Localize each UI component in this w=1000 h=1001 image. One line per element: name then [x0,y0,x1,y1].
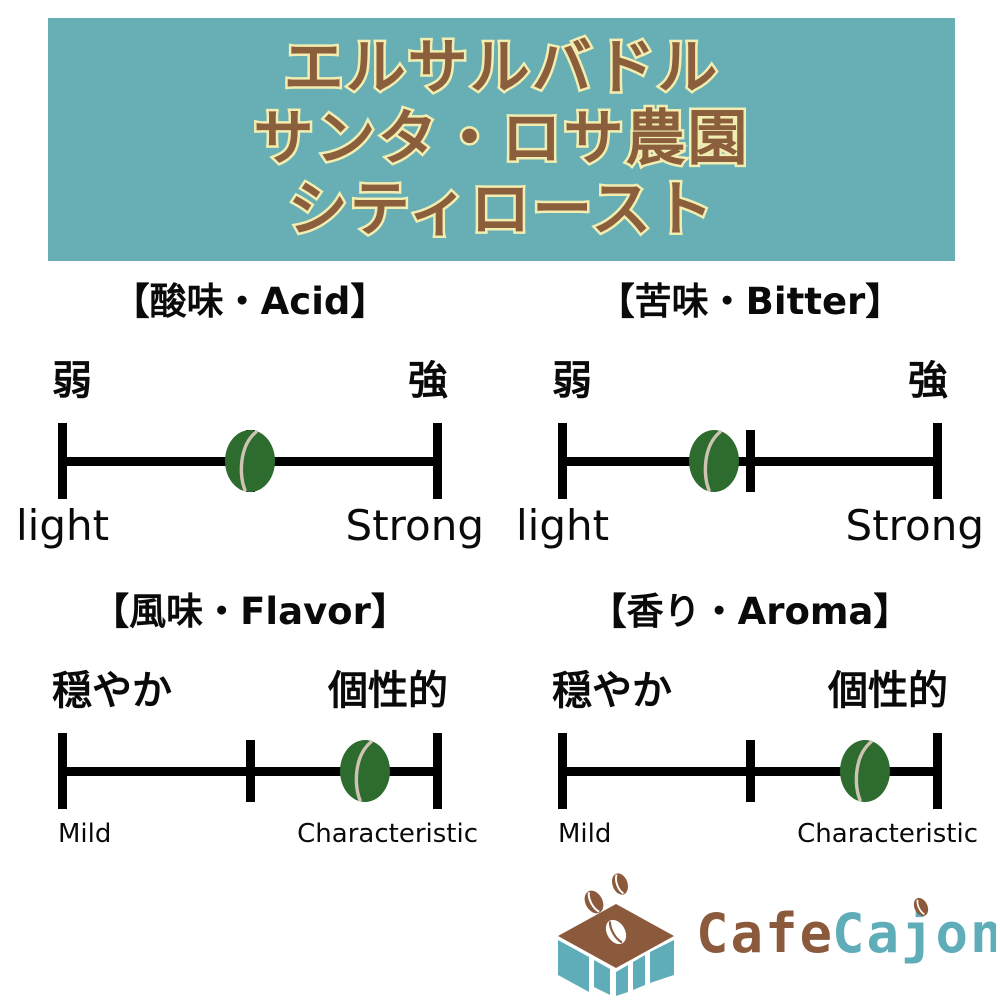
scale-aroma-ruler [552,733,948,809]
scale-acid: 【酸味・Acid】 弱 強 light Strong [0,261,500,571]
brand-logo: Cafe Cajon [548,866,988,996]
scale-flavor-axis: 穏やか 個性的 Mild Characteristic [52,671,448,871]
title-banner: エルサルバドル サンタ・ロサ農園 シティロースト [48,18,955,261]
scale-bitter-label-right-en: Strong [846,505,984,547]
coffee-bean-marker-flavor [338,739,392,803]
title-line-1: エルサルバドル [284,33,720,104]
scale-aroma-label-left-en: Mild [558,821,611,847]
scale-flavor-label-left-en: Mild [58,821,111,847]
scale-acid-ruler [52,423,448,499]
brand-wordmark: Cafe Cajon [696,890,996,980]
scale-flavor-heading: 【風味・Flavor】 [0,581,500,635]
coffee-bean-marker-aroma [838,739,892,803]
scale-aroma-label-right-en: Characteristic [797,821,978,847]
scale-aroma-label-right-jp: 個性的 [828,671,948,711]
scale-bitter-tick-left [558,423,567,499]
scale-flavor-label-right-en: Characteristic [297,821,478,847]
scale-aroma-tick-right [933,733,942,809]
scale-aroma-heading: 【香り・Aroma】 [500,581,1000,635]
scale-flavor-label-right-jp: 個性的 [328,671,448,711]
scale-aroma-tick-mid [746,740,755,802]
scale-bitter-label-right-jp: 強 [908,361,948,401]
scale-flavor-ruler [52,733,448,809]
scale-acid-axis: 弱 強 light Strong [52,361,448,561]
scale-flavor-tick-right [433,733,442,809]
scale-acid-label-left-jp: 弱 [52,361,92,401]
scale-flavor-label-left-jp: 穏やか [52,671,172,711]
title-line-2: サンタ・ロサ農園 [254,104,750,175]
scale-bitter-label-left-en: light [516,505,609,547]
scale-acid-label-right-en: Strong [346,505,484,547]
coffee-bean-marker-acid [223,429,277,493]
brand-text-cajon: Cajon [832,902,996,965]
scale-bitter: 【苦味・Bitter】 弱 強 light Strong [500,261,1000,571]
scale-bitter-axis: 弱 強 light Strong [552,361,948,561]
coffee-bean-marker-bitter [687,429,741,493]
scale-aroma-tick-left [558,733,567,809]
taste-profile-scales: 【酸味・Acid】 弱 強 light Strong 【苦味・Bitte [0,261,1000,881]
coffee-box-logo-icon [548,866,688,996]
scale-acid-tick-left [58,423,67,499]
scale-bitter-label-left-jp: 弱 [552,361,592,401]
scale-bitter-ruler [552,423,948,499]
scale-acid-tick-right [433,423,442,499]
scale-flavor: 【風味・Flavor】 穏やか 個性的 Mild Characteristic [0,571,500,881]
scale-bitter-tick-right [933,423,942,499]
scale-aroma: 【香り・Aroma】 穏やか 個性的 Mild Characteristic [500,571,1000,881]
scale-acid-label-left-en: light [16,505,109,547]
scale-bitter-heading: 【苦味・Bitter】 [500,271,1000,325]
scale-flavor-tick-mid [246,740,255,802]
scale-aroma-axis: 穏やか 個性的 Mild Characteristic [552,671,948,871]
scale-acid-label-right-jp: 強 [408,361,448,401]
brand-text-cafe: Cafe [696,902,834,965]
scale-bitter-tick-mid [746,430,755,492]
title-line-3: シティロースト [288,175,715,246]
scale-flavor-tick-left [58,733,67,809]
scale-aroma-label-left-jp: 穏やか [552,671,672,711]
scale-acid-heading: 【酸味・Acid】 [0,271,500,325]
